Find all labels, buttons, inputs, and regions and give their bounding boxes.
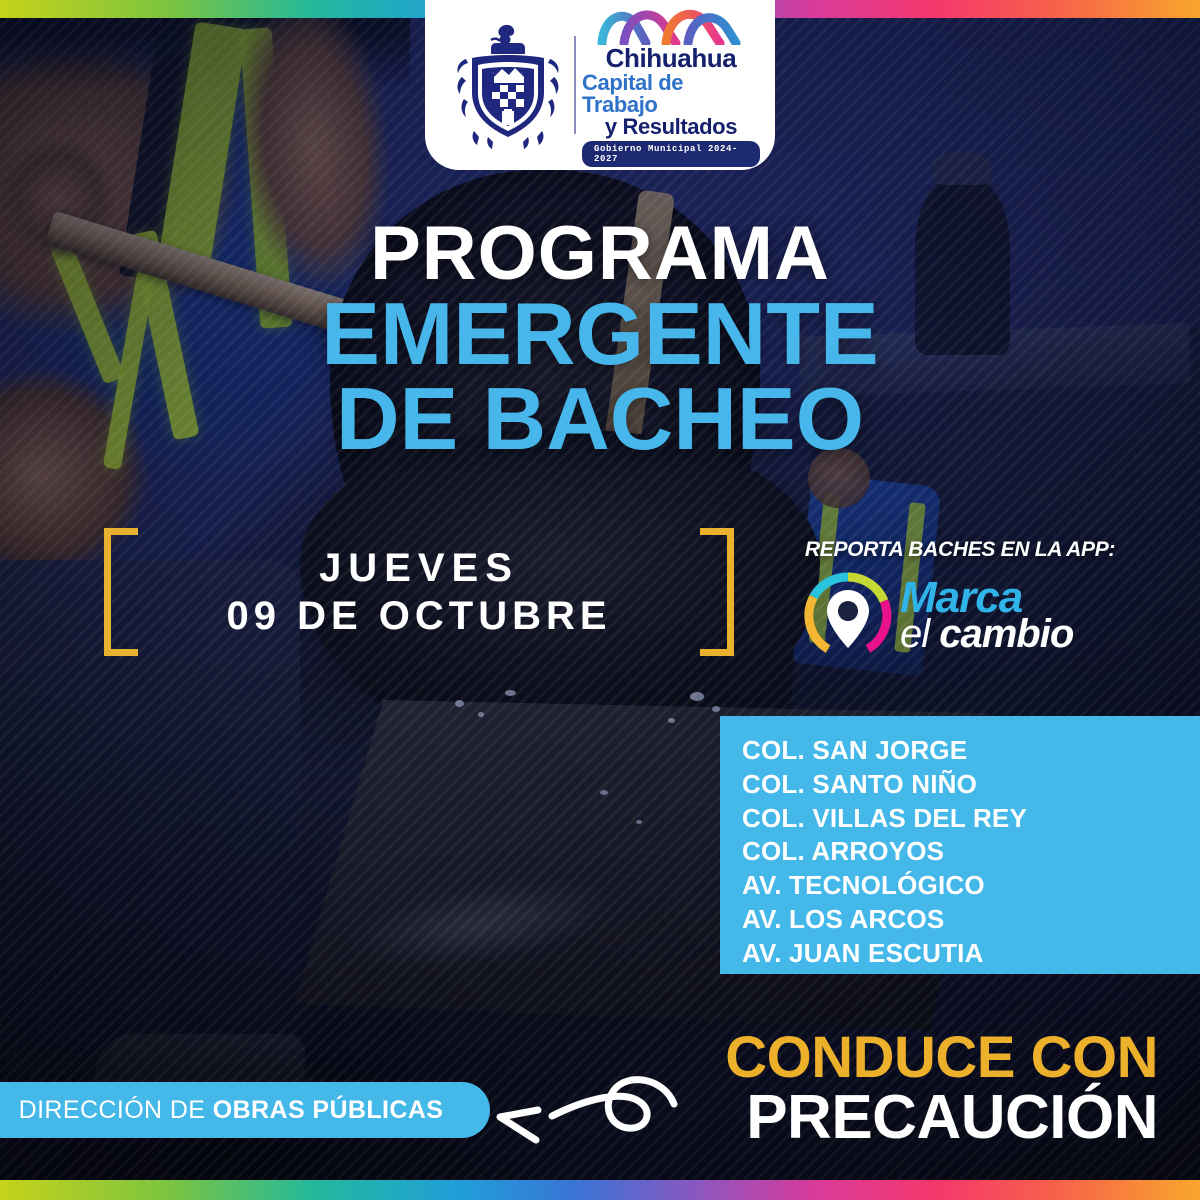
poster-canvas: · · · · · · [0, 0, 1200, 1200]
department-pill-text: DIRECCIÓN DE OBRAS PÚBLICAS [19, 1096, 444, 1125]
department-bold: OBRAS PÚBLICAS [213, 1096, 444, 1124]
chihuahua-coat-of-arms-icon: · · · · · · [444, 19, 572, 151]
list-item: AV. JUAN ESCUTIA [742, 937, 1200, 971]
list-item: COL. ARROYOS [742, 835, 1200, 869]
app-name-light: el [900, 612, 939, 656]
department-pill: DIRECCIÓN DE OBRAS PÚBLICAS [0, 1082, 490, 1138]
app-wordmark: Marca el cambio [900, 580, 1073, 653]
brand-line3: y Resultados [605, 116, 737, 138]
app-name-line2: el cambio [900, 616, 1073, 653]
date-block: JUEVES 09 DE OCTUBRE [104, 528, 734, 656]
safety-message: CONDUCE CON PRECAUCIÓN [725, 1030, 1158, 1149]
list-item: COL. SANTO NIÑO [742, 768, 1200, 802]
app-promo-block: REPORTA BACHES EN LA APP: Marca el cambi… [790, 538, 1170, 662]
app-logo[interactable]: Marca el cambio [802, 570, 1170, 662]
brand-period-pill: Gobierno Municipal 2024-2027 [582, 141, 760, 167]
chihuahua-wave-icon [596, 3, 746, 45]
brand-line1: Chihuahua [606, 46, 737, 71]
government-logo-card: · · · · · · [425, 0, 775, 170]
department-prefix: DIRECCIÓN DE [19, 1096, 213, 1124]
date-weekday: JUEVES [319, 545, 519, 591]
headline-line1: PROGRAMA [0, 218, 1200, 291]
curly-arrow-left-icon [478, 1064, 678, 1184]
list-item: AV. TECNOLÓGICO [742, 869, 1200, 903]
location-pin-icon [802, 570, 894, 662]
list-item: AV. LOS ARCOS [742, 903, 1200, 937]
app-lead-text: REPORTA BACHES EN LA APP: [790, 538, 1130, 562]
app-name-line1: Marca [900, 580, 1073, 616]
headline-block: PROGRAMA EMERGENTE DE BACHEO [0, 218, 1200, 462]
headline-line3: DE BACHEO [0, 376, 1200, 461]
safety-line1: CONDUCE CON [725, 1030, 1158, 1087]
date-text: JUEVES 09 DE OCTUBRE [104, 528, 734, 656]
list-item: COL. SAN JORGE [742, 734, 1200, 768]
safety-line2: PRECAUCIÓN [725, 1087, 1158, 1149]
streets-panel: COL. SAN JORGE COL. SANTO NIÑO COL. VILL… [720, 716, 1200, 974]
brand-line2: Capital de Trabajo [582, 72, 760, 116]
rainbow-bar-bottom [0, 1180, 1200, 1200]
headline-line2: EMERGENTE [0, 291, 1200, 376]
app-name-bold: cambio [939, 612, 1073, 656]
date-day-month: 09 DE OCTUBRE [226, 593, 611, 639]
svg-text:· · · · · ·: · · · · · · [492, 70, 524, 77]
brand-block: Chihuahua Capital de Trabajo y Resultado… [582, 3, 760, 166]
logo-divider [574, 36, 576, 134]
list-item: COL. VILLAS DEL REY [742, 802, 1200, 836]
